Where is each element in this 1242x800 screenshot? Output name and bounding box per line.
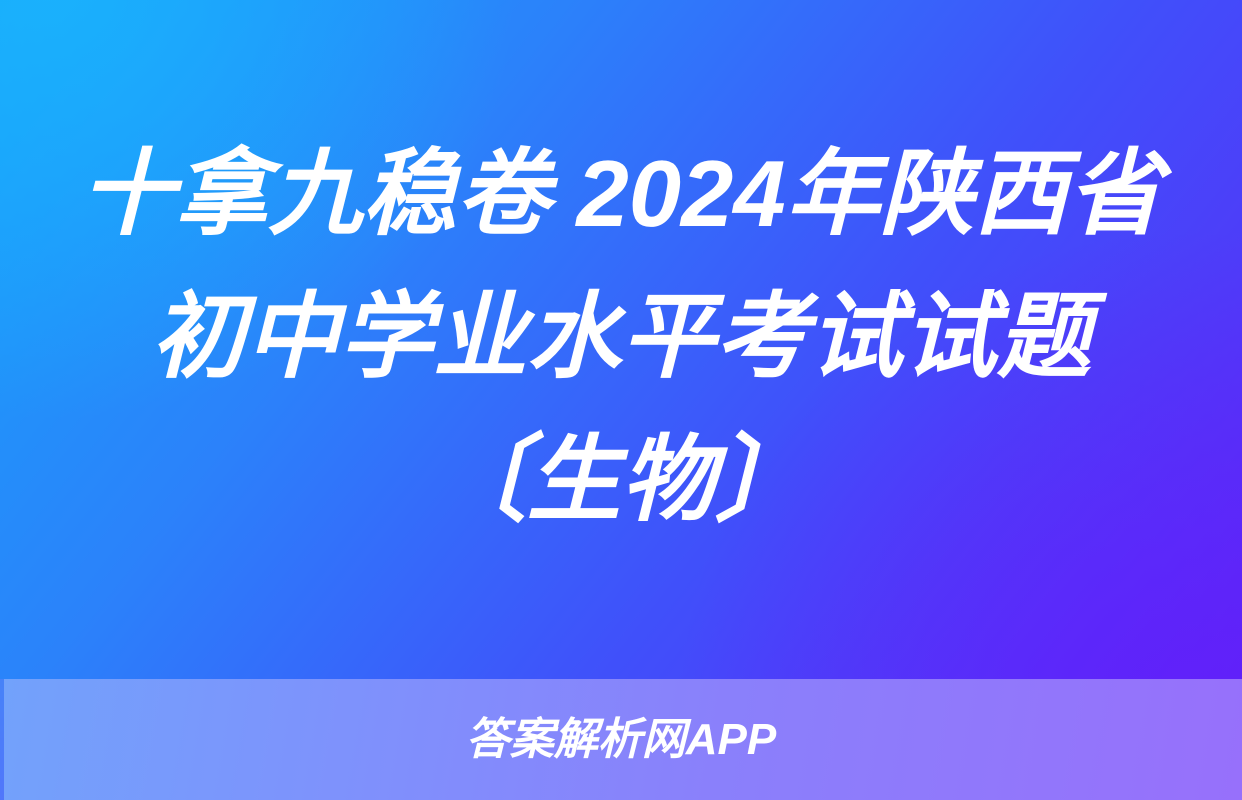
hero-banner: 十拿九稳卷 2024年陕西省初中学业水平考试试题〔生物〕: [0, 0, 1242, 679]
brand-label: 答案解析网APP: [466, 718, 776, 762]
poster-canvas: 十拿九稳卷 2024年陕西省初中学业水平考试试题〔生物〕 答案解析网APP: [0, 0, 1242, 800]
page-title: 十拿九稳卷 2024年陕西省初中学业水平考试试题〔生物〕: [64, 122, 1179, 557]
footer-brand-bar: 答案解析网APP: [0, 679, 1242, 800]
footer-left-edge-accent: [0, 679, 4, 800]
